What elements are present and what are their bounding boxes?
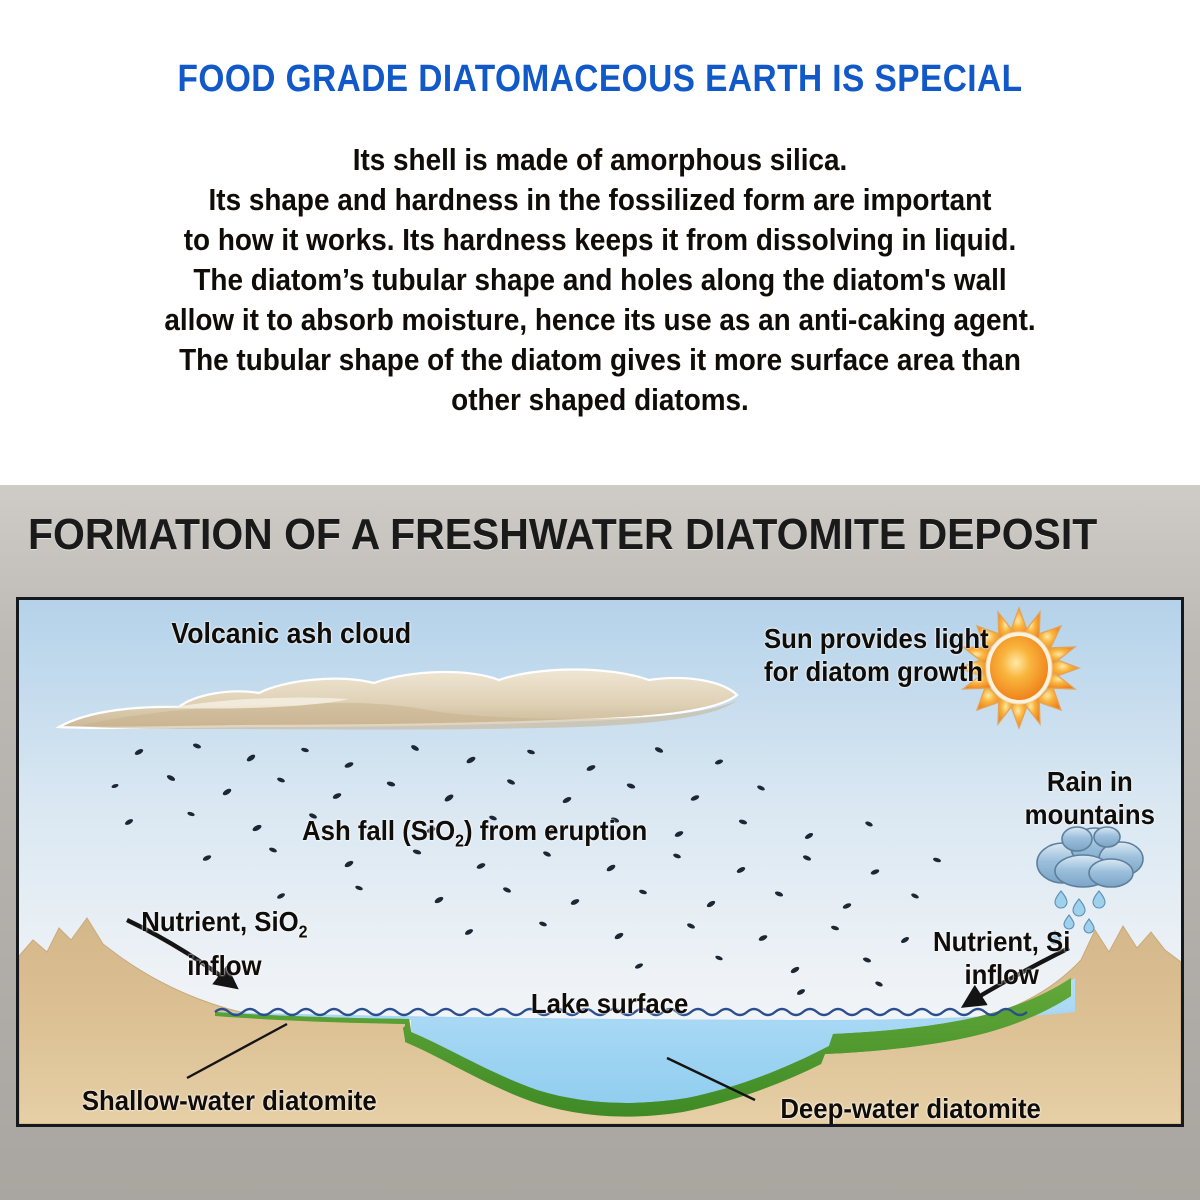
illustration-frame: Volcanic ash cloud Sun provides light fo… [16, 597, 1184, 1127]
label-nutrient-left-line2: inflow [187, 950, 261, 981]
label-ashfall-pre: Ash fall (SiO [302, 815, 455, 846]
diagram-section: FORMATION OF A FRESHWATER DIATOMITE DEPO… [0, 485, 1200, 1200]
diatomite-formation-illustration [19, 600, 1181, 1124]
label-sun-line2: for diatom growth [764, 656, 983, 687]
intro-line: to how it works. Its hardness keeps it f… [150, 220, 1050, 260]
label-deep-water-diatomite: Deep-water diatomite [780, 1093, 1041, 1125]
label-nutrient-left-subscript: 2 [299, 922, 308, 942]
label-nutrient-si-inflow: Nutrient, Si inflow [933, 925, 1070, 991]
label-sun-provides-light: Sun provides light for diatom growth [764, 622, 989, 688]
label-nutrient-sio2-inflow: Nutrient, SiO2 inflow [141, 905, 307, 982]
label-ash-fall: Ash fall (SiO2) from eruption [302, 815, 647, 852]
label-ashfall-subscript: 2 [455, 831, 464, 851]
intro-line: Its shape and hardness in the fossilized… [150, 180, 1050, 220]
label-nutrient-left-pre: Nutrient, SiO [141, 906, 298, 937]
intro-paragraph: Its shell is made of amorphous silica. I… [150, 140, 1050, 420]
label-nutrient-right-line1: Nutrient, Si [933, 926, 1070, 957]
label-nutrient-right-line2: inflow [964, 959, 1038, 990]
intro-line: other shaped diatoms. [150, 380, 1050, 420]
page-title: FOOD GRADE DIATOMACEOUS EARTH IS SPECIAL [72, 58, 1128, 101]
label-sun-line1: Sun provides light [764, 623, 989, 654]
intro-line: Its shell is made of amorphous silica. [150, 140, 1050, 180]
intro-section: FOOD GRADE DIATOMACEOUS EARTH IS SPECIAL… [0, 0, 1200, 485]
label-rain-in-mountains: Rain in mountains [1025, 765, 1155, 831]
intro-line: The tubular shape of the diatom gives it… [150, 340, 1050, 380]
intro-line: allow it to absorb moisture, hence its u… [150, 300, 1050, 340]
label-rain-line2: mountains [1025, 799, 1155, 830]
label-ashfall-post: ) from eruption [464, 815, 647, 846]
label-volcanic-ash-cloud: Volcanic ash cloud [171, 618, 411, 651]
label-rain-line1: Rain in [1047, 766, 1133, 797]
diagram-heading: FORMATION OF A FRESHWATER DIATOMITE DEPO… [28, 510, 1097, 560]
label-shallow-water-diatomite: Shallow-water diatomite [82, 1085, 377, 1117]
label-lake-surface: Lake surface [531, 988, 689, 1020]
intro-line: The diatom’s tubular shape and holes alo… [150, 260, 1050, 300]
